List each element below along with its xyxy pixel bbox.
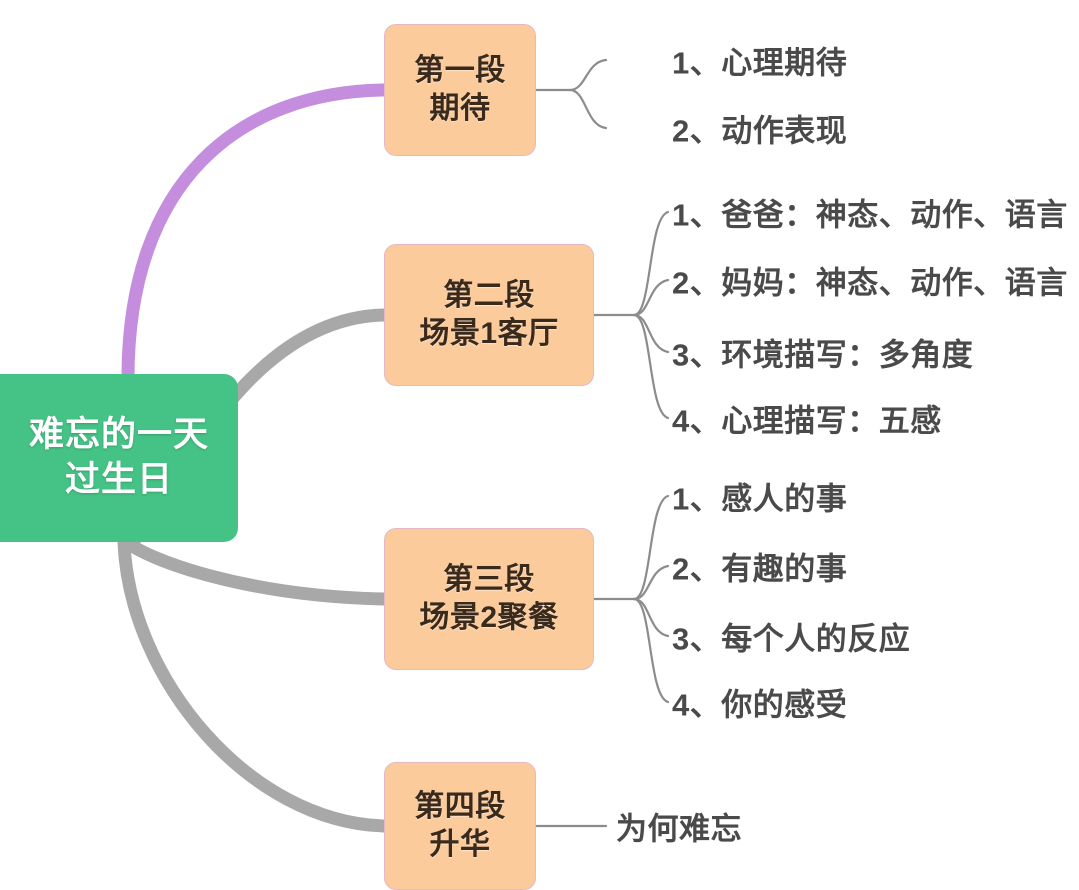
- branch-node-line-1: 第二段: [443, 277, 535, 315]
- sub-link-1-1: [634, 280, 668, 315]
- leaf-item[interactable]: 4、你的感受: [672, 680, 847, 725]
- sub-link-0-1: [570, 90, 606, 128]
- mindmap-canvas: 难忘的一天 过生日 第一段 期待 1、心理期待 2、动作表现 第二段 场景1客厅…: [0, 0, 1079, 884]
- leaf-item[interactable]: 2、妈妈：神态、动作、语言: [672, 258, 1068, 303]
- branch-node-first-paragraph[interactable]: 第一段 期待: [384, 24, 536, 156]
- leaf-item[interactable]: 3、环境描写：多角度: [672, 330, 973, 375]
- leaf-item[interactable]: 2、动作表现: [672, 106, 847, 151]
- sub-link-2-0: [634, 496, 668, 599]
- root-node-line-2: 过生日: [65, 458, 173, 503]
- main-link-branch-3: [124, 543, 384, 826]
- sub-link-2-1: [634, 566, 668, 599]
- branch-node-line-1: 第三段: [443, 561, 535, 599]
- leaf-item[interactable]: 为何难忘: [616, 804, 742, 849]
- branch-node-line-1: 第四段: [414, 788, 506, 826]
- sub-link-1-0: [634, 212, 668, 315]
- branch-node-line-2: 期待: [430, 90, 491, 128]
- leaf-item[interactable]: 4、心理描写：五感: [672, 396, 942, 441]
- leaf-item[interactable]: 1、心理期待: [672, 38, 847, 83]
- sub-link-0-0: [570, 60, 606, 90]
- root-node-line-1: 难忘的一天: [29, 413, 209, 458]
- main-link-branch-2: [128, 543, 384, 599]
- branch-node-line-1: 第一段: [414, 52, 506, 90]
- sub-link-2-3: [634, 599, 668, 702]
- leaf-item[interactable]: 1、感人的事: [672, 474, 847, 519]
- leaf-item[interactable]: 1、爸爸：神态、动作、语言: [672, 190, 1068, 235]
- branch-node-fourth-paragraph[interactable]: 第四段 升华: [384, 762, 536, 890]
- branch-node-third-paragraph[interactable]: 第三段 场景2聚餐: [384, 528, 594, 670]
- leaf-item[interactable]: 2、有趣的事: [672, 544, 847, 589]
- sub-link-2-2: [634, 599, 668, 636]
- main-link-branch-0: [128, 90, 384, 378]
- branch-node-second-paragraph[interactable]: 第二段 场景1客厅: [384, 244, 594, 386]
- branch-node-line-2: 场景2聚餐: [419, 599, 558, 637]
- branch-node-line-2: 升华: [430, 826, 491, 864]
- sub-link-1-2: [634, 315, 668, 352]
- root-node[interactable]: 难忘的一天 过生日: [0, 374, 238, 542]
- leaf-item[interactable]: 3、每个人的反应: [672, 614, 910, 659]
- sub-link-1-3: [634, 315, 668, 418]
- branch-node-line-2: 场景1客厅: [419, 315, 558, 353]
